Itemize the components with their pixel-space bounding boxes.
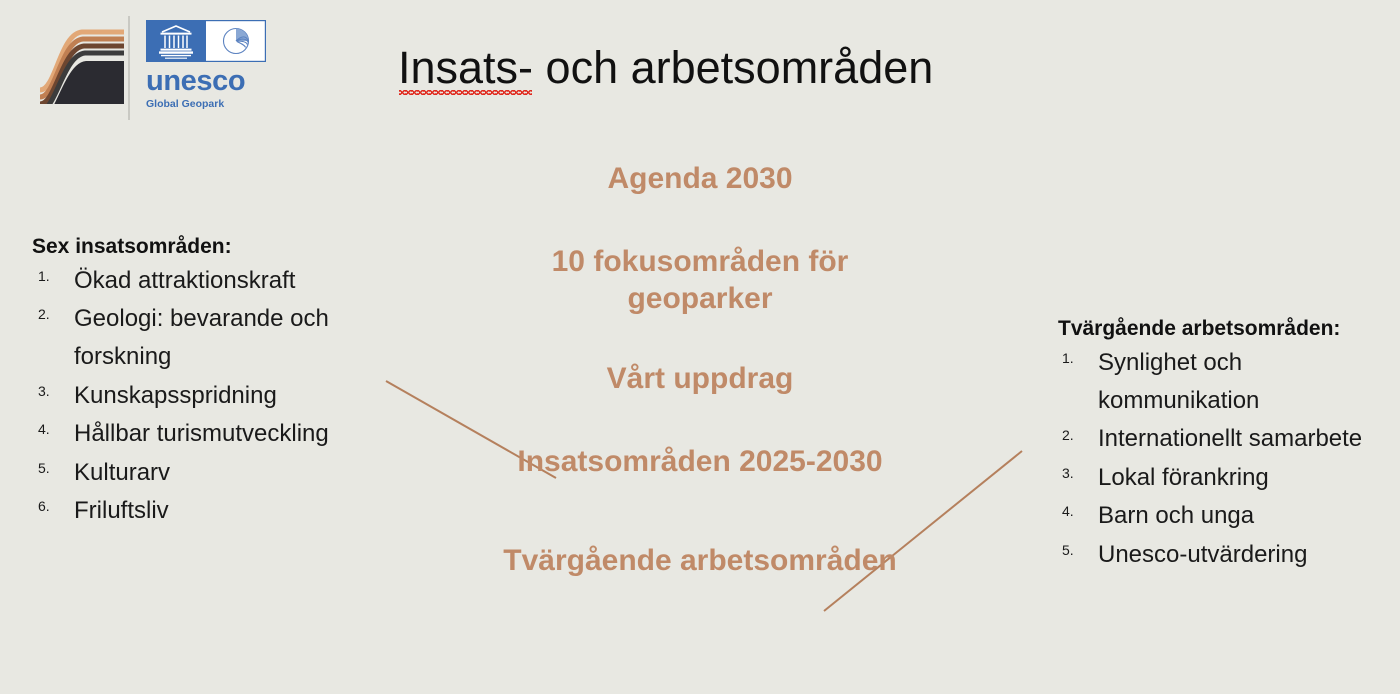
list-item: Ökad attraktionskraft	[32, 262, 392, 300]
left-column-list: Ökad attraktionskraft Geologi: bevarande…	[32, 262, 392, 531]
center-item-tvargaende-arbetsomraden: Tvärgående arbetsområden	[500, 542, 900, 579]
center-item-agenda-2030: Agenda 2030	[500, 160, 900, 197]
list-item: Friluftsliv	[32, 492, 392, 530]
list-item: Lokal förankring	[1058, 459, 1398, 497]
geopark-strata-logo	[38, 20, 126, 108]
list-item: Kunskapsspridning	[32, 377, 392, 415]
list-item: Geologi: bevarande och forskning	[32, 300, 392, 377]
list-item: Internationellt samarbete	[1058, 420, 1398, 458]
logo-divider	[128, 16, 130, 120]
list-item: Unesco-utvärdering	[1058, 536, 1398, 574]
left-column: Sex insatsområden: Ökad attraktionskraft…	[32, 234, 392, 530]
logo-lockup: unesco Global Geopark	[38, 12, 298, 116]
list-item: Synlighet och kommunikation	[1058, 344, 1398, 421]
list-item: Kulturarv	[32, 454, 392, 492]
unesco-wordmark: unesco	[146, 67, 296, 96]
unesco-subtitle: Global Geopark	[146, 99, 296, 110]
left-column-heading: Sex insatsområden:	[32, 234, 392, 260]
page-title: Insats- och arbetsområden	[398, 42, 933, 94]
slide-canvas: unesco Global Geopark Insats- och arbets…	[0, 0, 1400, 694]
center-item-vart-uppdrag: Vårt uppdrag	[500, 360, 900, 397]
right-column-list: Synlighet och kommunikation Internatione…	[1058, 344, 1398, 574]
title-remainder: och arbetsområden	[533, 42, 933, 93]
title-misspelled-word: Insats-	[398, 42, 533, 94]
unesco-emblem	[146, 20, 266, 62]
list-item: Hållbar turismutveckling	[32, 415, 392, 453]
right-column-heading: Tvärgående arbetsområden:	[1058, 316, 1398, 342]
center-column: Agenda 2030 10 fokusområden för geoparke…	[500, 160, 900, 579]
center-item-fokusomraden: 10 fokusområden för geoparker	[500, 243, 900, 317]
right-column: Tvärgående arbetsområden: Synlighet och …	[1058, 316, 1398, 574]
list-item: Barn och unga	[1058, 497, 1398, 535]
center-item-insatsomraden: Insatsområden 2025-2030	[500, 443, 900, 480]
unesco-logo: unesco Global Geopark	[146, 20, 296, 110]
